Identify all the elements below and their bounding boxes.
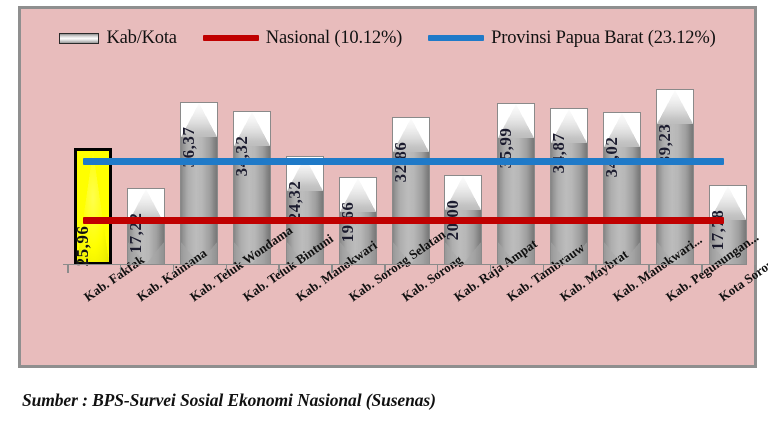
- bar-column[interactable]: 39,23: [656, 89, 694, 265]
- bar-bottom-bevel: [234, 242, 270, 264]
- bar-3[interactable]: 34,32: [233, 111, 271, 265]
- bar-highlighted[interactable]: 25,96: [74, 148, 112, 265]
- bar-column[interactable]: 24,32: [286, 156, 324, 265]
- x-axis-tick: [754, 265, 756, 273]
- bar-column[interactable]: 17,78: [709, 185, 747, 265]
- x-axis-tick: [173, 265, 175, 273]
- bar-column[interactable]: 17,22: [127, 188, 165, 265]
- x-axis-line: [63, 264, 744, 266]
- bar-bottom-bevel: [498, 242, 534, 264]
- bar-value-label: 24,32: [285, 180, 305, 221]
- source-note: Sumber : BPS-Survei Sosial Ekonomi Nasio…: [22, 390, 436, 411]
- bar-12[interactable]: 17,78: [709, 185, 747, 265]
- x-axis-tick: [384, 265, 386, 273]
- bar-bottom-bevel: [393, 242, 429, 264]
- bar-bottom-bevel: [657, 242, 693, 264]
- bar-value-label: 17,78: [708, 210, 728, 251]
- bar-bottom-bevel: [287, 242, 323, 264]
- x-axis-tick: [490, 265, 492, 273]
- reference-line-nasional: [83, 158, 724, 165]
- bar-bottom-bevel: [604, 242, 640, 264]
- plot-area: 25,9617,2236,3734,3224,3219,6632,8620,00…: [21, 9, 754, 365]
- bar-8[interactable]: 35,99: [497, 103, 535, 265]
- x-axis-tick: [120, 265, 122, 273]
- bar-value-label: 25,96: [73, 226, 93, 267]
- bar-bottom-bevel: [181, 242, 217, 264]
- bar-4[interactable]: 24,32: [286, 156, 324, 265]
- bar-top-bevel: [657, 90, 693, 124]
- x-axis-tick: [331, 265, 333, 273]
- bar-6[interactable]: 32,86: [392, 117, 430, 265]
- x-axis-tick: [278, 265, 280, 273]
- bar-column[interactable]: 34,02: [603, 112, 641, 265]
- x-axis-tick: [595, 265, 597, 273]
- x-axis-tick: [437, 265, 439, 273]
- bar-bottom-bevel: [551, 242, 587, 264]
- bar-column[interactable]: 34,32: [233, 111, 271, 265]
- x-axis-tick: [543, 265, 545, 273]
- bar-bottom-bevel: [340, 242, 376, 264]
- bar-column[interactable]: 35,99: [497, 103, 535, 265]
- bar-bottom-bevel: [445, 242, 481, 264]
- bar-value-label: 34,87: [549, 133, 569, 174]
- reference-line-provinsi-papua-barat: [83, 217, 724, 224]
- x-axis-tick: [701, 265, 703, 273]
- x-axis-tick: [648, 265, 650, 273]
- bar-column[interactable]: 36,37: [180, 102, 218, 265]
- bar-value-label: 34,32: [232, 136, 252, 177]
- bar-2[interactable]: 36,37: [180, 102, 218, 265]
- bar-0[interactable]: 25,96: [74, 148, 112, 265]
- bar-column[interactable]: 32,86: [392, 117, 430, 265]
- bar-10[interactable]: 34,02: [603, 112, 641, 265]
- bar-9[interactable]: 34,87: [550, 108, 588, 265]
- bar-1[interactable]: 17,22: [127, 188, 165, 265]
- bar-column[interactable]: 34,87: [550, 108, 588, 265]
- bar-11[interactable]: 39,23: [656, 89, 694, 265]
- bars-layer: 25,9617,2236,3734,3224,3219,6632,8620,00…: [21, 9, 754, 365]
- x-axis-tick: [226, 265, 228, 273]
- chart-frame: Kab/Kota Nasional (10.12%) Provinsi Papu…: [18, 6, 757, 368]
- x-axis-tick: [67, 265, 69, 273]
